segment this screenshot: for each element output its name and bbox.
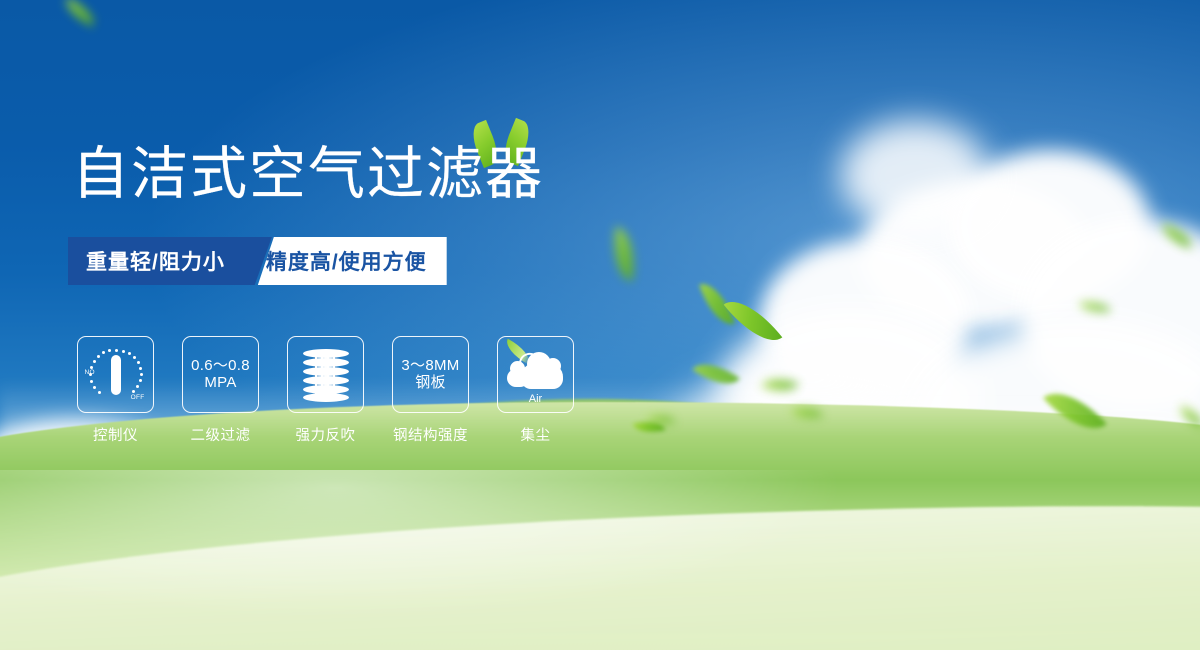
feature-label: 控制仪	[93, 424, 138, 445]
subtitle-right: 精度高/使用方便	[258, 237, 447, 285]
dial-no-label: NO	[85, 369, 95, 376]
steel-value-line2: 钢板	[415, 375, 446, 392]
feature-item-backblow[interactable]: 强力反吹	[288, 336, 363, 445]
feature-item-control-dial[interactable]: NO OFF 控制仪	[78, 336, 153, 445]
feature-label: 强力反吹	[296, 424, 356, 445]
feature-label: 集尘	[521, 424, 551, 445]
feature-icon-box	[287, 336, 364, 413]
pressure-value-line2: MPA	[204, 375, 236, 392]
subtitle-bar: 重量轻/阻力小 精度高/使用方便	[68, 237, 447, 285]
subtitle-left: 重量轻/阻力小	[68, 237, 247, 285]
promo-banner: 自洁式空气过滤器 重量轻/阻力小 精度高/使用方便	[0, 0, 1200, 650]
feature-item-steel[interactable]: 3〜8MM 钢板 钢结构强度	[393, 336, 468, 445]
pressure-value-line1: 0.6〜0.8	[191, 358, 250, 375]
air-label: Air	[507, 393, 565, 405]
feature-list: NO OFF 控制仪 0.6〜0.8 MPA 二级过滤	[78, 336, 573, 445]
steel-value-line1: 3〜8MM	[401, 358, 459, 375]
air-cloud-icon: Air	[507, 351, 565, 399]
feature-item-dust[interactable]: Air 集尘	[498, 336, 573, 445]
dial-off-label: OFF	[131, 394, 145, 401]
feature-icon-box: NO OFF	[77, 336, 154, 413]
feature-label: 钢结构强度	[393, 424, 468, 445]
feature-label: 二级过滤	[191, 424, 251, 445]
feature-icon-box: 0.6〜0.8 MPA	[182, 336, 259, 413]
feature-icon-box: Air	[497, 336, 574, 413]
grass-highlight	[0, 470, 1200, 650]
feature-item-pressure[interactable]: 0.6〜0.8 MPA 二级过滤	[183, 336, 258, 445]
control-dial-icon: NO OFF	[87, 347, 145, 403]
filter-stack-icon	[300, 348, 352, 402]
feature-icon-box: 3〜8MM 钢板	[392, 336, 469, 413]
page-title: 自洁式空气过滤器	[72, 146, 544, 203]
